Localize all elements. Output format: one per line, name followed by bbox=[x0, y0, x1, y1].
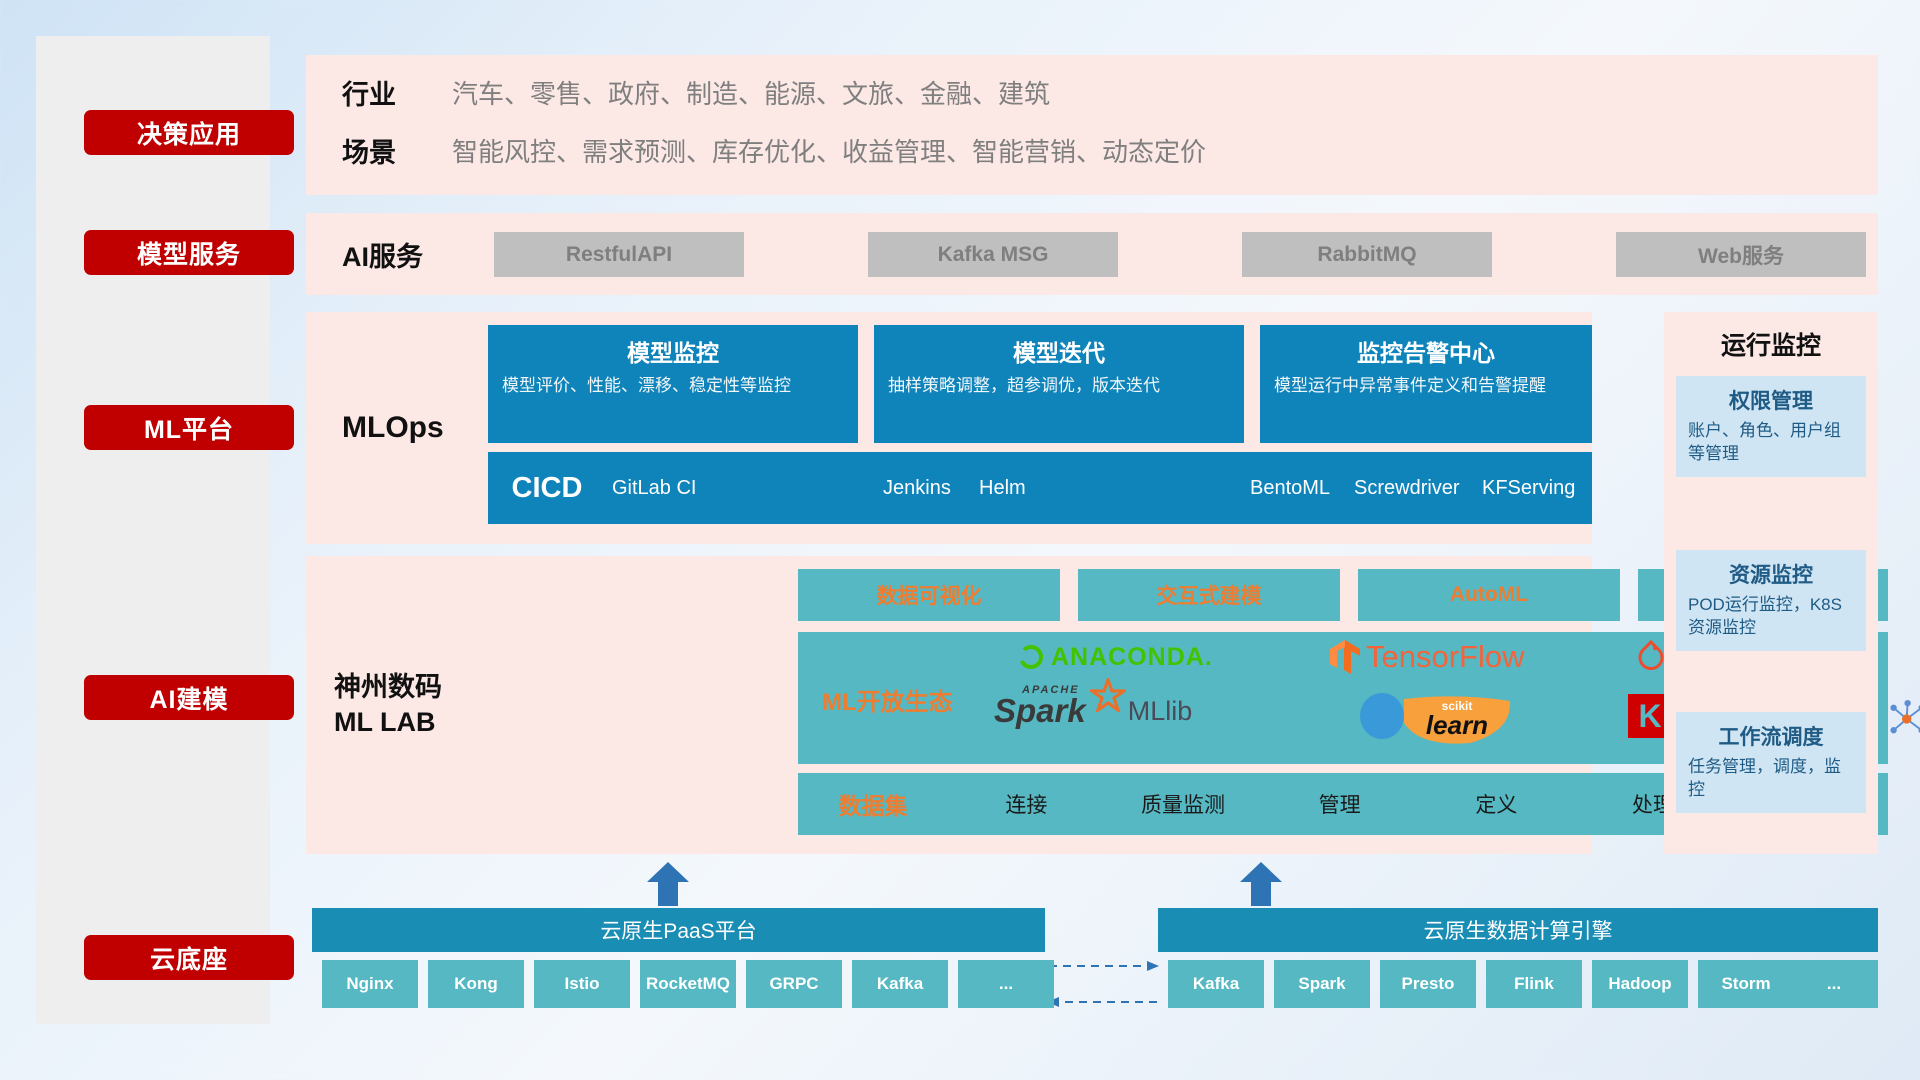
card-desc: 抽样策略调整，超参调优，版本迭代 bbox=[888, 375, 1230, 397]
cicd-tool-jenkins[interactable]: Jenkins bbox=[877, 477, 973, 500]
chip-label: 交互式建模 bbox=[1157, 580, 1262, 610]
tag-label: Kafka bbox=[1193, 975, 1239, 993]
architecture-diagram: 决策应用 模型服务 ML平台 AI建模 云底座 行业 汽车、零售、政府、制造、能… bbox=[0, 0, 1920, 1080]
card-title: 模型迭代 bbox=[888, 334, 1230, 368]
cicd-tool-bentoml[interactable]: BentoML bbox=[1244, 477, 1348, 500]
tag-label: ... bbox=[999, 975, 1013, 993]
rail-item-ml-platform[interactable]: ML平台 bbox=[84, 405, 294, 450]
dataset-head: 数据集 bbox=[798, 787, 948, 821]
card-title: 模型监控 bbox=[502, 334, 844, 368]
mlops-card-model-monitor[interactable]: 模型监控 模型评价、性能、漂移、稳定性等监控 bbox=[488, 325, 858, 443]
service-chip-web-service[interactable]: Web服务 bbox=[1616, 232, 1866, 277]
tag-label: Nginx bbox=[346, 975, 393, 993]
industry-row: 行业 汽车、零售、政府、制造、能源、文旅、金融、建筑 bbox=[342, 73, 1050, 112]
rail-label: 云底座 bbox=[150, 940, 228, 976]
dataset-item-connect[interactable]: 连接 bbox=[948, 789, 1105, 819]
ml-lab-label: 神州数码 ML LAB bbox=[334, 556, 442, 854]
tag-label: Spark bbox=[1298, 975, 1345, 993]
mlops-card-model-iteration[interactable]: 模型迭代 抽样策略调整，超参调优，版本迭代 bbox=[874, 325, 1244, 443]
cloud-tag-istio[interactable]: Istio bbox=[534, 960, 630, 1008]
networkx-logo: NetworkX Network Analysis in Python bbox=[1888, 696, 1920, 741]
networkx-graph-icon bbox=[1888, 698, 1920, 740]
monitor-card-resource[interactable]: 资源监控 POD运行监控，K8S资源监控 bbox=[1676, 550, 1866, 651]
cicd-tool-screwdriver[interactable]: Screwdriver bbox=[1348, 477, 1476, 500]
anaconda-logo: ANACONDA. bbox=[1016, 642, 1213, 672]
service-chip-restfulapi[interactable]: RestfulAPI bbox=[494, 232, 744, 277]
cloud-tag-spark[interactable]: Spark bbox=[1274, 960, 1370, 1008]
paas-platform-bar[interactable]: 云原生PaaS平台 bbox=[312, 908, 1045, 952]
cloud-tag-nginx[interactable]: Nginx bbox=[322, 960, 418, 1008]
rail-label: ML平台 bbox=[144, 410, 234, 446]
anaconda-wordmark: ANACONDA. bbox=[1051, 643, 1213, 672]
chip-label: Kafka MSG bbox=[938, 243, 1049, 267]
card-title: 工作流调度 bbox=[1676, 712, 1866, 756]
chip-label: Web服务 bbox=[1698, 240, 1784, 270]
spark-apache-text: APACHE bbox=[1022, 684, 1080, 696]
chip-label: 数据可视化 bbox=[877, 580, 982, 610]
tag-label: Hadoop bbox=[1608, 975, 1671, 993]
tag-label: RocketMQ bbox=[646, 975, 730, 993]
tag-label: Kong bbox=[454, 975, 497, 993]
dataset-item-define[interactable]: 定义 bbox=[1418, 789, 1575, 819]
tool-chip-automl[interactable]: AutoML bbox=[1358, 569, 1620, 621]
bidirectional-connector bbox=[1045, 950, 1161, 1016]
cicd-row: CICD GitLab CI Jenkins Helm BentoML Scre… bbox=[488, 452, 1592, 524]
cloud-tag-more-left[interactable]: ... bbox=[958, 960, 1054, 1008]
tensorflow-logo: TensorFlow bbox=[1328, 638, 1525, 676]
cloud-tag-kafka-right[interactable]: Kafka bbox=[1168, 960, 1264, 1008]
tag-label: Presto bbox=[1402, 975, 1455, 993]
learn-text: learn bbox=[1398, 713, 1516, 738]
monitor-card-permission[interactable]: 权限管理 账户、角色、用户组等管理 bbox=[1676, 376, 1866, 477]
tool-chip-data-visualization[interactable]: 数据可视化 bbox=[798, 569, 1060, 621]
card-desc: POD运行监控，K8S资源监控 bbox=[1676, 594, 1866, 651]
tool-chip-interactive-modeling[interactable]: 交互式建模 bbox=[1078, 569, 1340, 621]
pytorch-icon bbox=[1636, 639, 1666, 673]
card-desc: 账户、角色、用户组等管理 bbox=[1676, 420, 1866, 477]
runtime-monitor-band: 运行监控 权限管理 账户、角色、用户组等管理 资源监控 POD运行监控，K8S资… bbox=[1664, 312, 1878, 854]
rail-item-ai-modeling[interactable]: AI建模 bbox=[84, 675, 294, 720]
anaconda-icon bbox=[1016, 642, 1046, 672]
tag-label: GRPC bbox=[769, 975, 818, 993]
monitor-title: 运行监控 bbox=[1664, 326, 1878, 362]
rail-label: 决策应用 bbox=[137, 115, 241, 151]
scene-key: 场景 bbox=[342, 131, 452, 170]
tag-label: ... bbox=[1827, 975, 1841, 993]
tag-label: Istio bbox=[565, 975, 600, 993]
monitor-card-workflow[interactable]: 工作流调度 任务管理，调度，监控 bbox=[1676, 712, 1866, 813]
rail-label: AI建模 bbox=[149, 680, 228, 716]
bar-label: 云原生PaaS平台 bbox=[600, 915, 756, 945]
mlops-card-alert-center[interactable]: 监控告警中心 模型运行中异常事件定义和告警提醒 bbox=[1260, 325, 1592, 443]
decision-application-band: 行业 汽车、零售、政府、制造、能源、文旅、金融、建筑 场景 智能风控、需求预测、… bbox=[306, 55, 1878, 195]
scene-row: 场景 智能风控、需求预测、库存优化、收益管理、智能营销、动态定价 bbox=[342, 131, 1206, 170]
rail-item-decision-app[interactable]: 决策应用 bbox=[84, 110, 294, 155]
ml-lab-line2: ML LAB bbox=[334, 705, 442, 740]
cloud-tag-rocketmq[interactable]: RocketMQ bbox=[640, 960, 736, 1008]
cloud-tag-more-right[interactable]: ... bbox=[1790, 960, 1878, 1008]
card-desc: 模型运行中异常事件定义和告警提醒 bbox=[1274, 375, 1578, 397]
industry-key: 行业 bbox=[342, 73, 452, 112]
tensorflow-wordmark: TensorFlow bbox=[1366, 639, 1525, 675]
ml-lab-line1: 神州数码 bbox=[334, 670, 442, 705]
tag-label: Flink bbox=[1514, 975, 1554, 993]
ai-service-band: AI服务 RestfulAPI Kafka MSG RabbitMQ Web服务 bbox=[306, 213, 1878, 295]
cloud-tag-kafka-left[interactable]: Kafka bbox=[852, 960, 948, 1008]
chip-label: AutoML bbox=[1450, 583, 1528, 607]
bar-label: 云原生数据计算引擎 bbox=[1424, 915, 1613, 945]
card-title: 资源监控 bbox=[1676, 550, 1866, 594]
ai-service-label: AI服务 bbox=[342, 213, 423, 295]
rail-item-cloud-base[interactable]: 云底座 bbox=[84, 935, 294, 980]
layer-rail: 决策应用 模型服务 ML平台 AI建模 云底座 bbox=[36, 36, 270, 1024]
spark-star-icon bbox=[1090, 678, 1126, 712]
service-chip-rabbitmq[interactable]: RabbitMQ bbox=[1242, 232, 1492, 277]
scene-value: 智能风控、需求预测、库存优化、收益管理、智能营销、动态定价 bbox=[452, 132, 1206, 169]
rail-label: 模型服务 bbox=[137, 235, 241, 271]
cloud-tag-kong[interactable]: Kong bbox=[428, 960, 524, 1008]
tag-label: Kafka bbox=[877, 975, 923, 993]
cicd-tool-helm[interactable]: Helm bbox=[973, 477, 1244, 500]
mlops-band: MLOps 模型监控 模型评价、性能、漂移、稳定性等监控 模型迭代 抽样策略调整… bbox=[306, 312, 1592, 544]
spark-mllib-logo: APACHE Spark MLlib bbox=[994, 692, 1192, 730]
tag-label: Storm bbox=[1721, 975, 1770, 993]
cicd-tool-gitlab-ci[interactable]: GitLab CI bbox=[606, 477, 877, 500]
industry-value: 汽车、零售、政府、制造、能源、文旅、金融、建筑 bbox=[452, 74, 1050, 111]
card-title: 监控告警中心 bbox=[1274, 334, 1578, 368]
scikit-learn-logo: scikit learn bbox=[1358, 690, 1516, 742]
cloud-tag-storm[interactable]: Storm bbox=[1698, 960, 1794, 1008]
mllib-wordmark: MLlib bbox=[1128, 696, 1193, 727]
chip-label: RestfulAPI bbox=[566, 243, 672, 267]
tensorflow-icon bbox=[1328, 638, 1362, 676]
cloud-tag-presto[interactable]: Presto bbox=[1380, 960, 1476, 1008]
data-compute-engine-bar[interactable]: 云原生数据计算引擎 bbox=[1158, 908, 1878, 952]
cloud-tag-hadoop[interactable]: Hadoop bbox=[1592, 960, 1688, 1008]
card-desc: 任务管理，调度，监控 bbox=[1676, 756, 1866, 813]
rail-item-model-service[interactable]: 模型服务 bbox=[84, 230, 294, 275]
dataset-item-quality-monitor[interactable]: 质量监测 bbox=[1105, 789, 1262, 819]
ai-modeling-band: 神州数码 ML LAB 数据可视化 交互式建模 AutoML JupyterLa… bbox=[306, 556, 1592, 854]
cloud-tag-grpc[interactable]: GRPC bbox=[746, 960, 842, 1008]
mlops-label: MLOps bbox=[342, 312, 444, 544]
card-desc: 模型评价、性能、漂移、稳定性等监控 bbox=[502, 375, 844, 397]
cicd-brand: CICD bbox=[488, 472, 606, 505]
chip-label: RabbitMQ bbox=[1317, 243, 1416, 267]
card-title: 权限管理 bbox=[1676, 376, 1866, 420]
spark-wordmark: Spark bbox=[994, 692, 1086, 729]
arrow-up-left bbox=[645, 860, 691, 906]
service-chip-kafka-msg[interactable]: Kafka MSG bbox=[868, 232, 1118, 277]
arrow-up-right bbox=[1238, 860, 1284, 906]
cicd-tool-kfserving[interactable]: KFServing bbox=[1476, 477, 1592, 500]
eco-title: ML开放生态 bbox=[822, 682, 953, 717]
cloud-tag-flink[interactable]: Flink bbox=[1486, 960, 1582, 1008]
dataset-item-manage[interactable]: 管理 bbox=[1261, 789, 1418, 819]
